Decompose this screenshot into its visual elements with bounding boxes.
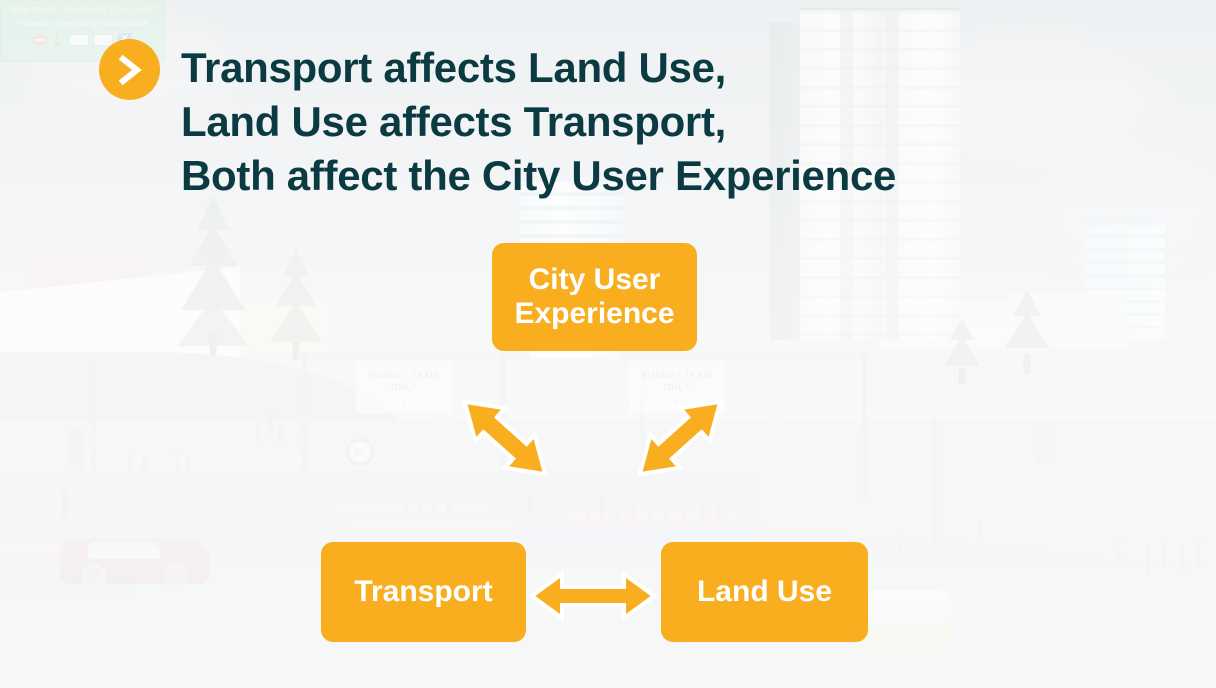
connector-land-use-to-city-user-experience: [630, 378, 730, 498]
chevron-right-icon: [99, 39, 160, 100]
node-label-line-1: City User: [514, 263, 674, 297]
page-title: Transport affects Land Use, Land Use aff…: [181, 41, 1021, 203]
node-transport[interactable]: Transport: [321, 542, 526, 642]
connector-transport-to-city-user-experience: [455, 378, 555, 498]
title-line-3: Both affect the City User Experience: [181, 149, 1021, 203]
connector-transport-to-land-use: [528, 568, 658, 624]
node-city-user-experience[interactable]: City User Experience: [492, 243, 697, 351]
node-label: Transport: [354, 575, 492, 609]
title-line-2: Land Use affects Transport,: [181, 95, 1021, 149]
title-line-1: Transport affects Land Use,: [181, 41, 1021, 95]
slide: 50: [0, 0, 1216, 688]
node-land-use[interactable]: Land Use: [661, 542, 868, 642]
node-label: Land Use: [697, 575, 832, 609]
node-label-line-2: Experience: [514, 297, 674, 331]
